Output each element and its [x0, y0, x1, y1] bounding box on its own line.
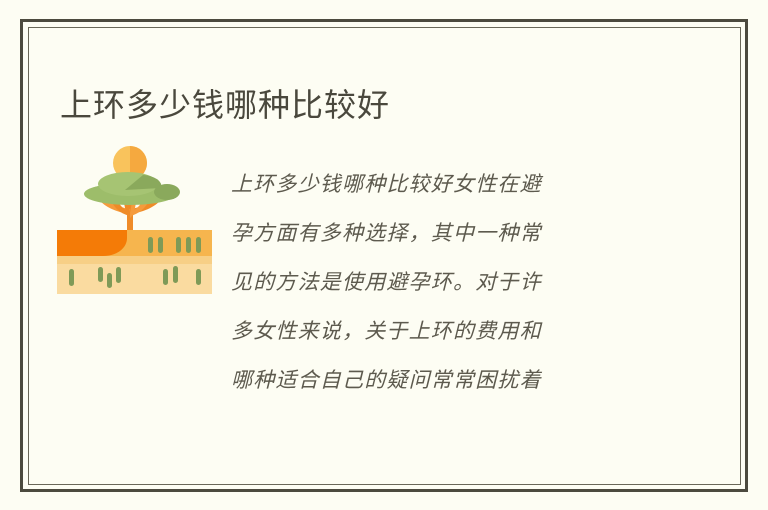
article-line: 孕方面有多种选择，其中一种常 — [231, 209, 651, 258]
article-line: 多女性来说，关于上环的费用和 — [231, 307, 651, 356]
article-line: 哪种适合自己的疑问常常困扰着 — [231, 356, 651, 405]
article-body: 上环多少钱哪种比较好女性在避 孕方面有多种选择，其中一种常 见的方法是使用避孕环… — [231, 160, 651, 405]
page-title: 上环多少钱哪种比较好 — [60, 83, 390, 127]
article-line: 上环多少钱哪种比较好女性在避 — [231, 160, 651, 209]
article-line: 见的方法是使用避孕环。对于许 — [231, 258, 651, 307]
article-card: 上环多少钱哪种比较好 — [0, 0, 768, 510]
savanna-illustration — [57, 142, 212, 294]
